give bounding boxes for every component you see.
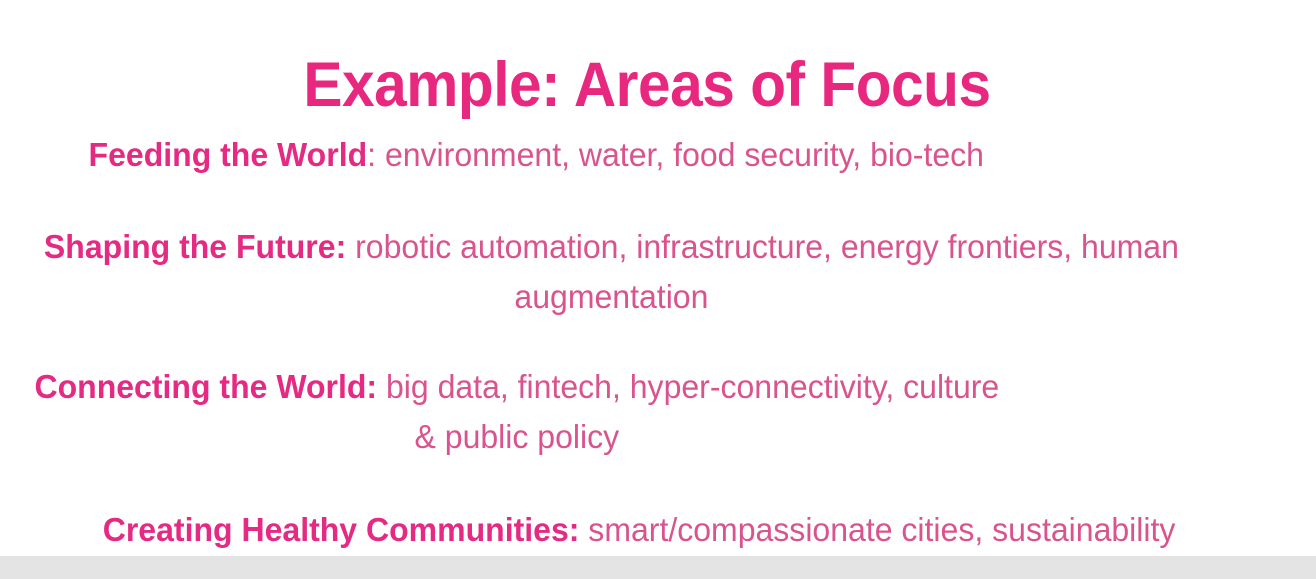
focus-area-item: Connecting the World: big data, fintech,… [27, 362, 1007, 462]
focus-area-detail: environment, water, food security, bio-t… [385, 136, 984, 173]
focus-area-separator: : [367, 136, 385, 173]
slide-bottom-edge [0, 556, 1316, 579]
focus-area-separator [346, 228, 355, 265]
focus-area-detail: robotic automation, infrastructure, ener… [355, 228, 1179, 315]
focus-area-item: Shaping the Future: robotic automation, … [27, 222, 1196, 322]
focus-areas-list: Feeding the World: environment, water, f… [27, 118, 1289, 555]
focus-area-separator [579, 511, 588, 548]
focus-area-lead: Connecting the World: [34, 368, 377, 405]
slide-canvas: Example: Areas of Focus Feeding the Worl… [0, 0, 1316, 579]
focus-area-lead: Feeding the World [89, 136, 368, 173]
focus-area-detail: big data, fintech, hyper-connectivity, c… [386, 368, 999, 455]
focus-area-separator [377, 368, 386, 405]
focus-area-lead: Creating Healthy Communities: [103, 511, 580, 548]
focus-area-item: Creating Healthy Communities: smart/comp… [27, 505, 1251, 555]
page-title: Example: Areas of Focus [45, 46, 1248, 124]
focus-area-detail: smart/compassionate cities, sustainabili… [588, 511, 1175, 548]
focus-area-lead: Shaping the Future: [44, 228, 346, 265]
focus-area-item: Feeding the World: environment, water, f… [27, 130, 1046, 180]
